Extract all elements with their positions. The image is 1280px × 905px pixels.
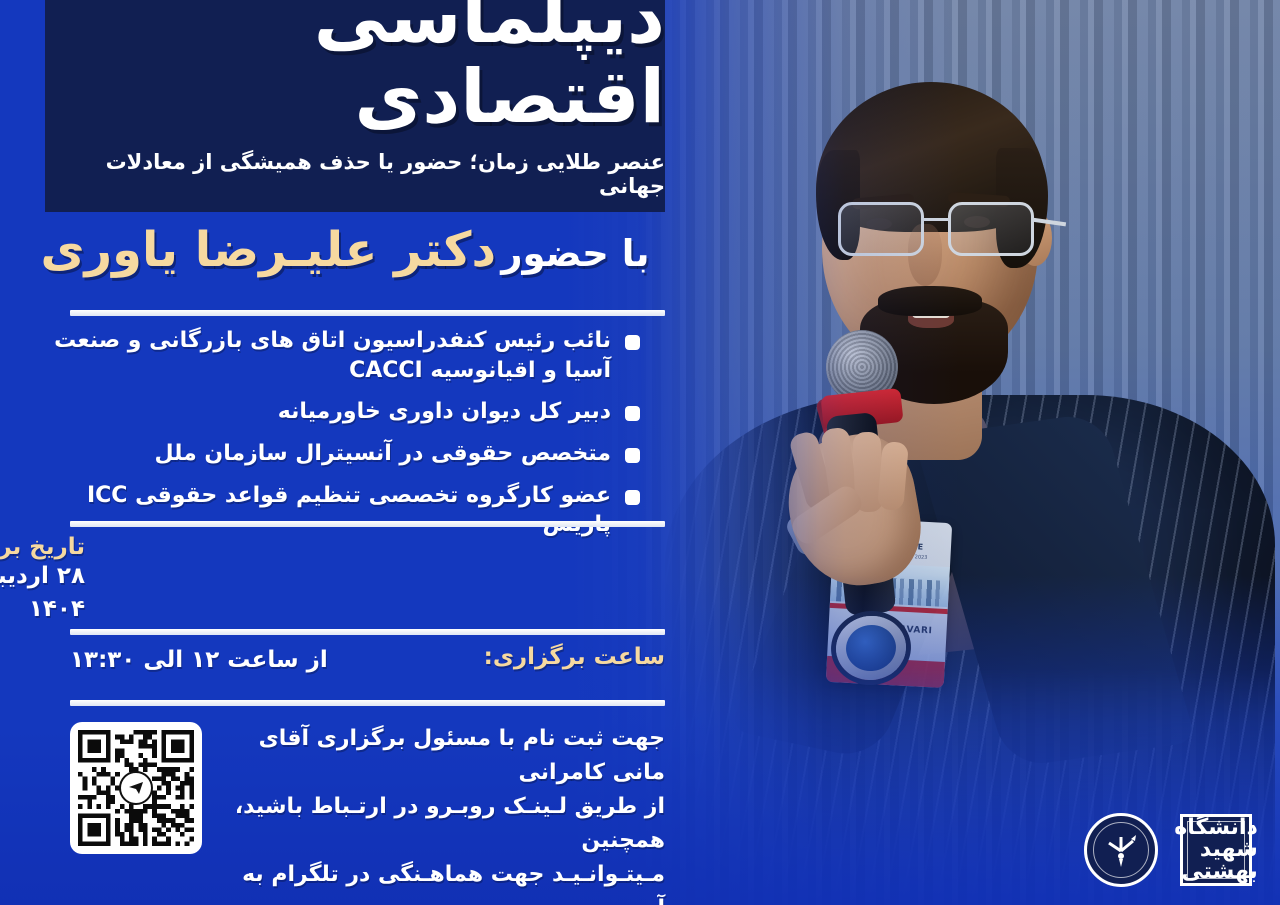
university-logo: دانشگاه شهید بهشتی xyxy=(1180,814,1252,886)
speaker-headline: با حضور دکتر علیـرضا یاوری xyxy=(35,222,655,278)
qr-center-logo-icon xyxy=(119,771,153,805)
registration-text: جهت ثبت نام با مسئول برگزاری آقای مانی ک… xyxy=(220,722,665,905)
speaker-prefix: با حضور xyxy=(501,232,649,275)
registration-line-3: مـیتـوانـیـد جهت هماهـنگی در تلگرام به آ… xyxy=(220,858,665,905)
qr-code[interactable] xyxy=(70,722,202,854)
list-item: نائب رئیس کنفدراسیون اتاق های بازرگانی و… xyxy=(35,326,640,385)
university-logo-text: دانشگاه شهید بهشتی xyxy=(1174,817,1258,883)
bullet-square-icon xyxy=(625,406,640,421)
bullet-square-icon xyxy=(625,335,640,350)
credentials-list: نائب رئیس کنفدراسیون اتاق های بازرگانی و… xyxy=(35,326,640,552)
list-item: عضو کارگروه تخصصی تنظیم قواعد حقوقی ICC … xyxy=(35,481,640,540)
event-time-row: ساعت برگزاری: از ساعت ۱۲ الی ۱۳:۳۰ xyxy=(70,644,665,677)
event-date-label: تاریخ برگزاری: xyxy=(0,534,85,560)
logo-row: دانشگاه شهید بهشتی xyxy=(1084,813,1252,887)
divider-top xyxy=(70,310,665,316)
registration-block: جهت ثبت نام با مسئول برگزاری آقای مانی ک… xyxy=(70,722,665,905)
speaker-name: دکتر علیـرضا یاوری xyxy=(41,222,497,278)
content-column: دیپلماسی اقتصادی عنصر طلایی زمان؛ حضور ی… xyxy=(0,0,700,905)
event-date-value: ۲۸ اردیبهشت ماه ۱۴۰۴ xyxy=(0,560,85,627)
event-time-value: از ساعت ۱۲ الی ۱۳:۳۰ xyxy=(70,644,328,677)
bullet-square-icon xyxy=(625,490,640,505)
divider-middle xyxy=(70,521,665,527)
faculty-emblem-icon xyxy=(1084,813,1158,887)
registration-line-1: جهت ثبت نام با مسئول برگزاری آقای مانی ک… xyxy=(220,722,665,790)
title-panel: دیپلماسی اقتصادی عنصر طلایی زمان؛ حضور ی… xyxy=(45,0,665,212)
page-title: دیپلماسی اقتصادی xyxy=(45,0,665,138)
event-time-label: ساعت برگزاری: xyxy=(484,644,665,677)
divider-time-top xyxy=(70,629,665,635)
registration-line-2: از طریق لـینـک روبـرو در ارتـباط باشید، … xyxy=(220,790,665,858)
page-subtitle: عنصر طلایی زمان؛ حضور یا حذف همیشگی از م… xyxy=(45,150,665,198)
poster-root: 18TH IACCI CONFERENCE 2023 TEHRAN SUMMIT… xyxy=(0,0,1280,905)
divider-time-bottom xyxy=(70,700,665,706)
bullet-square-icon xyxy=(625,448,640,463)
list-item: متخصص حقوقی در آنسیترال سازمان ملل xyxy=(35,439,640,469)
list-item: دبیر کل دیوان داوری خاورمیانه xyxy=(35,397,640,427)
